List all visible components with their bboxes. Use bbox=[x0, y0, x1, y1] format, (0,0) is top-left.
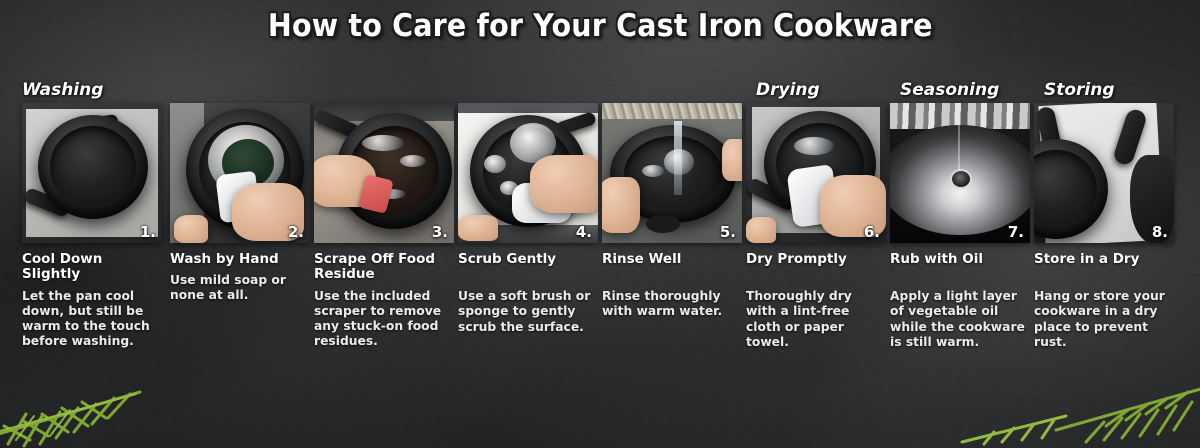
step-1: 1. Cool Down Slightly Let the pan cool d… bbox=[22, 103, 162, 349]
step-6-title: Dry Promptly bbox=[746, 252, 886, 267]
soap-suds bbox=[484, 155, 506, 173]
step-2-number: 2. bbox=[288, 223, 304, 241]
hand-right bbox=[722, 139, 742, 181]
step-4-number: 4. bbox=[576, 223, 592, 241]
page-title: How to Care for Your Cast Iron Cookware bbox=[268, 8, 933, 44]
hand bbox=[530, 155, 598, 213]
hand-left bbox=[602, 177, 640, 233]
step-6-image: 6. bbox=[746, 103, 886, 243]
hand-secondary bbox=[746, 217, 776, 243]
step-8-scene bbox=[1034, 103, 1174, 243]
step-4-title: Scrub Gently bbox=[458, 252, 598, 267]
step-3-description: Use the included scraper to remove any s… bbox=[314, 289, 454, 350]
reflection-line bbox=[958, 125, 960, 171]
hand-secondary bbox=[458, 215, 498, 241]
step-2-scene bbox=[170, 103, 310, 243]
group-header-washing: Washing bbox=[22, 80, 103, 100]
step-7-title: Rub with Oil bbox=[890, 252, 1030, 267]
step-1-number: 1. bbox=[140, 223, 156, 241]
step-2-description: Use mild soap or none at all. bbox=[170, 273, 310, 303]
step-4-image: 4. bbox=[458, 103, 598, 243]
step-7-number: 7. bbox=[1008, 223, 1024, 241]
step-2-title: Wash by Hand bbox=[170, 252, 310, 267]
step-1-description: Let the pan cool down, but still be warm… bbox=[22, 289, 162, 350]
pan-interior bbox=[50, 126, 136, 207]
step-7-description: Apply a light layer of vegetable oil whi… bbox=[890, 289, 1030, 350]
step-5-number: 5. bbox=[720, 223, 736, 241]
step-2-image: 2. bbox=[170, 103, 310, 243]
step-4: 4. Scrub Gently Use a soft brush or spon… bbox=[458, 103, 598, 335]
title-bar: How to Care for Your Cast Iron Cookware bbox=[0, 8, 1200, 44]
step-6-scene bbox=[746, 103, 886, 243]
infographic-poster: How to Care for Your Cast Iron Cookware … bbox=[0, 0, 1200, 448]
step-2: 2. Wash by Hand Use mild soap or none at… bbox=[170, 103, 310, 304]
oil-residue bbox=[362, 135, 404, 151]
oil-residue bbox=[400, 155, 426, 167]
group-header-storing: Storing bbox=[1044, 80, 1115, 100]
water-residue bbox=[794, 137, 834, 155]
step-1-image: 1. bbox=[22, 103, 162, 243]
rosemary-sprig-right-icon bbox=[946, 380, 1200, 448]
step-4-scene bbox=[458, 103, 598, 243]
step-6: 6. Dry Promptly Thoroughly dry with a li… bbox=[746, 103, 886, 350]
step-3: 3. Scrape Off Food Residue Use the inclu… bbox=[314, 103, 454, 349]
step-3-scene bbox=[314, 103, 454, 243]
step-6-description: Thoroughly dry with a lint-free cloth or… bbox=[746, 289, 886, 350]
step-5-image: 5. bbox=[602, 103, 742, 243]
step-8-number: 8. bbox=[1152, 223, 1168, 241]
group-header-seasoning: Seasoning bbox=[900, 80, 999, 100]
step-3-image: 3. bbox=[314, 103, 454, 243]
step-5-description: Rinse thoroughly with warm water. bbox=[602, 289, 742, 319]
step-8-image: 8. bbox=[1034, 103, 1174, 243]
water-splash bbox=[642, 165, 664, 177]
step-4-description: Use a soft brush or sponge to gently scr… bbox=[458, 289, 598, 334]
step-1-title: Cool Down Slightly bbox=[22, 252, 162, 283]
step-5-title: Rinse Well bbox=[602, 252, 742, 267]
step-5-scene bbox=[602, 103, 742, 243]
group-header-drying: Drying bbox=[756, 80, 820, 100]
cast-iron-pan bbox=[38, 115, 148, 219]
step-8-title: Store in a Dry bbox=[1034, 252, 1174, 267]
hand-secondary bbox=[174, 215, 208, 243]
step-8-description: Hang or store your cookware in a dry pla… bbox=[1034, 289, 1174, 350]
pan-center-logo bbox=[950, 169, 972, 189]
step-7-image: 7. bbox=[890, 103, 1030, 243]
water-splash bbox=[664, 149, 694, 175]
step-5: 5. Rinse Well Rinse thoroughly with warm… bbox=[602, 103, 742, 320]
step-7-scene bbox=[890, 103, 1030, 243]
step-6-number: 6. bbox=[864, 223, 880, 241]
rosemary-sprig-left-icon bbox=[0, 374, 220, 448]
step-3-title: Scrape Off Food Residue bbox=[314, 252, 454, 283]
step-3-number: 3. bbox=[432, 223, 448, 241]
counter-back bbox=[458, 103, 598, 113]
stone-countertop bbox=[602, 103, 742, 119]
step-7: 7. Rub with Oil Apply a light layer of v… bbox=[890, 103, 1030, 350]
step-1-scene bbox=[22, 103, 162, 243]
sink-drain bbox=[646, 215, 680, 233]
pan-interior bbox=[1034, 150, 1097, 228]
step-8: 8. Store in a Dry Hang or store your coo… bbox=[1034, 103, 1174, 350]
